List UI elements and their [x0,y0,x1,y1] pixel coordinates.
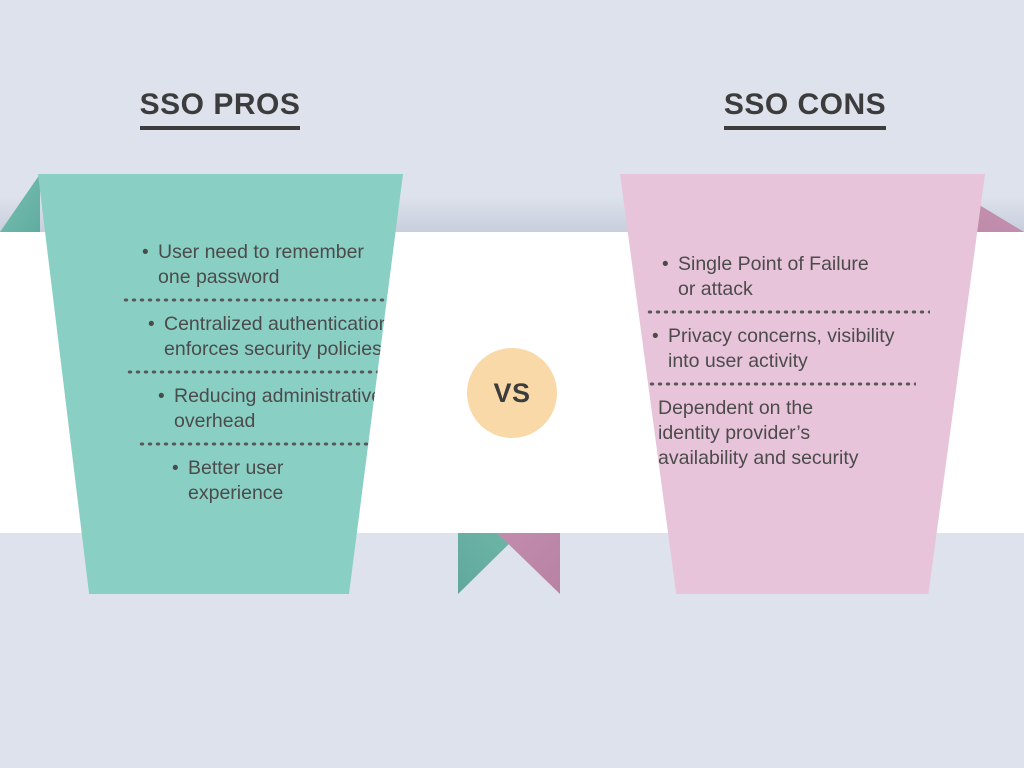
cons-heading-text: SSO CONS [724,88,886,130]
bullet-icon: • [662,252,678,277]
pros-heading: SSO PROS [0,88,440,130]
cons-panel: • Single Point of Failure or attack • Pr… [620,174,985,594]
list-item-label: User need to remember one password [158,240,364,290]
list-divider [122,297,418,303]
list-item: • Reducing administrative overhead [158,384,403,434]
bullet-icon: • [142,240,158,265]
list-item: • Centralized authentication enforces se… [148,312,403,362]
list-item: • User need to remember one password [142,240,403,290]
bullet-icon: • [148,312,164,337]
list-item-label: Centralized authentication enforces secu… [164,312,389,362]
cons-list: • Single Point of Failure or attack • Pr… [620,174,985,471]
bullet-icon: • [158,384,174,409]
bullet-icon: • [652,324,668,349]
vs-label: VS [493,378,530,409]
bullet-icon: • [172,456,188,481]
pros-list: • User need to remember one password • C… [38,174,403,506]
list-divider [646,309,930,315]
list-item-label: Single Point of Failure or attack [678,252,869,302]
list-item: • Dependent on the identity provider’s a… [642,396,985,471]
list-item: • Privacy concerns, visibility into user… [652,324,985,374]
list-item-label: Reducing administrative overhead [174,384,382,434]
infographic-canvas: SSO PROS SSO CONS • User need to remembe… [0,0,1024,768]
pros-panel: • User need to remember one password • C… [38,174,403,594]
vs-badge: VS [467,348,557,438]
list-item: • Single Point of Failure or attack [662,252,985,302]
list-item-label: Privacy concerns, visibility into user a… [668,324,894,374]
cons-heading: SSO CONS [585,88,1024,130]
list-divider [632,381,916,387]
pros-heading-text: SSO PROS [140,88,301,130]
list-item-label: Dependent on the identity provider’s ava… [658,396,859,471]
list-item-label: Better user experience [188,456,283,506]
